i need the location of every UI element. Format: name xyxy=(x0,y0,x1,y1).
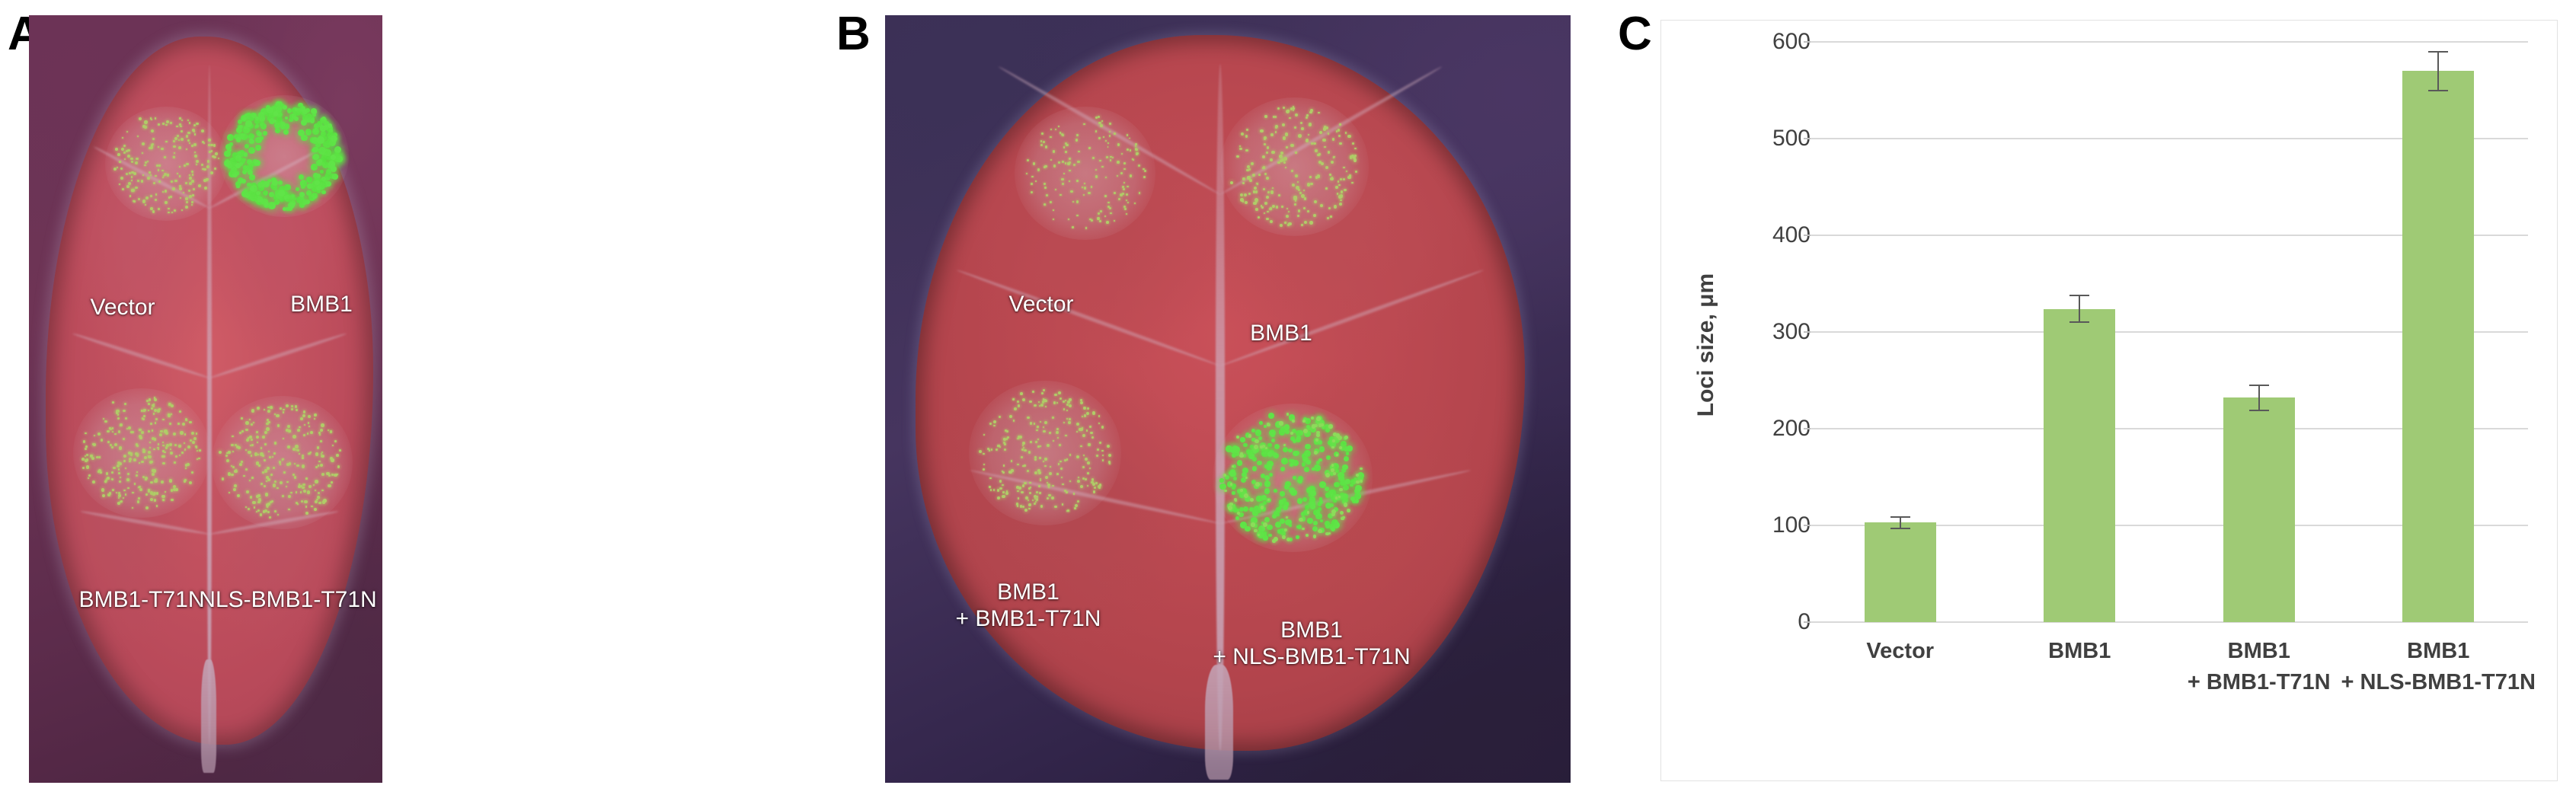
fluorescent-locus xyxy=(242,117,246,120)
fluorescent-locus xyxy=(127,487,129,489)
fluorescent-locus xyxy=(1292,184,1295,187)
fluorescent-locus xyxy=(318,159,322,164)
fluorescent-locus xyxy=(1138,164,1140,167)
fluorescent-locus xyxy=(315,480,318,483)
fluorescent-locus xyxy=(291,405,293,407)
fluorescent-locus xyxy=(1095,117,1098,119)
fluorescent-locus xyxy=(145,204,146,206)
fluorescent-locus xyxy=(267,467,270,470)
fluorescent-locus xyxy=(246,490,249,493)
fluorescent-locus xyxy=(124,403,126,405)
fluorescent-locus xyxy=(147,177,150,180)
fluorescent-locus xyxy=(1030,487,1031,488)
fluorescent-locus xyxy=(244,152,248,156)
fluorescent-locus xyxy=(1060,468,1063,470)
fluorescent-locus xyxy=(152,210,155,213)
fluorescent-locus xyxy=(91,457,94,460)
fluorescent-locus xyxy=(1319,500,1323,504)
fluorescent-locus xyxy=(185,197,188,200)
fluorescent-locus xyxy=(1086,429,1088,431)
fluorescent-locus xyxy=(263,510,265,512)
fluorescent-locus xyxy=(1123,182,1125,184)
fluorescent-locus xyxy=(161,170,163,171)
fluorescent-locus xyxy=(263,190,268,196)
fluorescent-locus xyxy=(1066,144,1069,147)
fluorescent-locus xyxy=(1341,190,1344,193)
fluorescent-locus xyxy=(278,190,285,196)
fluorescent-locus xyxy=(113,467,116,470)
fluorescent-locus xyxy=(167,174,170,177)
fluorescent-locus xyxy=(1009,415,1012,418)
fluorescent-locus xyxy=(175,488,178,491)
fluorescent-locus xyxy=(320,429,323,432)
error-bar xyxy=(2079,295,2080,323)
y-axis-tick-label: 300 xyxy=(1669,319,1821,345)
fluorescent-locus xyxy=(1228,506,1232,510)
fluorescent-locus xyxy=(1024,449,1027,452)
fluorescent-locus xyxy=(1057,437,1059,439)
fluorescent-locus xyxy=(1069,158,1071,160)
fluorescent-locus xyxy=(112,431,113,433)
fluorescent-locus xyxy=(178,146,181,149)
fluorescent-locus xyxy=(1264,475,1270,480)
fluorescent-locus xyxy=(1107,445,1110,448)
fluorescent-locus xyxy=(1094,487,1096,489)
fluorescent-locus xyxy=(1004,443,1006,445)
fluorescent-locus xyxy=(181,452,184,454)
fluorescent-locus xyxy=(305,477,308,480)
fluorescent-locus xyxy=(1232,486,1235,490)
y-axis-tick-label: 0 xyxy=(1669,609,1821,635)
fluorescent-locus xyxy=(1034,423,1036,425)
fluorescent-locus xyxy=(155,422,156,423)
fluorescent-locus xyxy=(92,480,95,484)
fluorescent-locus xyxy=(1333,157,1334,158)
fluorescent-locus xyxy=(1293,451,1298,456)
fluorescent-locus xyxy=(1072,226,1073,228)
fluorescent-locus xyxy=(150,461,152,463)
fluorescent-locus xyxy=(321,490,324,492)
fluorescent-locus xyxy=(1334,205,1338,209)
fluorescent-locus xyxy=(1075,139,1078,141)
fluorescent-locus xyxy=(300,491,302,493)
fluorescent-locus xyxy=(314,508,317,511)
fluorescent-locus xyxy=(113,168,117,171)
fluorescent-locus xyxy=(1279,421,1283,425)
fluorescent-locus xyxy=(1331,161,1334,164)
fluorescent-locus xyxy=(117,167,118,168)
fluorescent-locus xyxy=(1035,501,1037,503)
fluorescent-locus xyxy=(999,416,1001,418)
fluorescent-locus xyxy=(294,117,299,121)
fluorescent-locus xyxy=(119,462,122,465)
fluorescent-locus xyxy=(125,468,126,469)
error-bar-cap-upper xyxy=(2249,385,2269,386)
fluorescent-locus xyxy=(286,486,288,488)
fluorescent-locus xyxy=(1325,473,1330,477)
fluorescent-locus xyxy=(1124,208,1127,210)
fluorescent-locus xyxy=(187,132,190,134)
fluorescent-locus xyxy=(1095,175,1098,177)
fluorescent-locus xyxy=(1355,485,1362,492)
fluorescent-locus xyxy=(264,485,266,487)
x-axis-category-label: BMB1 xyxy=(1980,636,2181,667)
fluorescent-locus xyxy=(307,433,309,435)
fluorescent-locus xyxy=(131,176,133,177)
fluorescent-locus xyxy=(1050,201,1052,203)
fluorescent-locus xyxy=(287,445,289,448)
fluorescent-locus xyxy=(1297,498,1303,504)
fluorescent-locus xyxy=(111,446,113,448)
fluorescent-locus xyxy=(1298,189,1300,191)
fluorescent-locus xyxy=(990,489,992,491)
fluorescent-locus xyxy=(1252,174,1255,177)
fluorescent-locus xyxy=(310,431,313,434)
fluorescent-locus xyxy=(193,188,195,190)
fluorescent-locus xyxy=(123,497,124,499)
fluorescent-locus xyxy=(1053,164,1056,167)
fluorescent-locus xyxy=(1034,471,1037,474)
fluorescent-locus xyxy=(318,147,325,154)
fluorescent-locus xyxy=(1280,519,1285,524)
fluorescent-locus xyxy=(207,160,210,163)
fluorescent-locus xyxy=(1143,176,1146,178)
fluorescent-locus xyxy=(153,413,155,415)
fluorescent-locus xyxy=(1059,132,1062,134)
fluorescent-locus xyxy=(1120,172,1123,174)
fluorescent-locus xyxy=(303,410,306,413)
fluorescent-locus xyxy=(196,164,197,165)
fluorescent-locus xyxy=(1310,490,1316,496)
fluorescent-locus xyxy=(1083,194,1085,196)
fluorescent-locus xyxy=(250,496,253,499)
bar xyxy=(2044,309,2115,622)
fluorescent-locus xyxy=(152,493,155,496)
fluorescent-locus xyxy=(1319,131,1322,134)
fluorescent-locus xyxy=(259,116,265,122)
fluorescent-locus xyxy=(1253,449,1258,454)
fluorescent-locus xyxy=(290,492,292,493)
fluorescent-locus xyxy=(1106,221,1109,224)
fluorescent-locus xyxy=(1328,424,1332,428)
fluorescent-locus xyxy=(1099,484,1101,486)
fluorescent-locus xyxy=(1041,132,1044,135)
fluorescent-locus xyxy=(1346,452,1350,455)
fluorescent-locus xyxy=(1242,177,1245,180)
fluorescent-locus xyxy=(1068,421,1071,424)
fluorescent-locus xyxy=(254,160,260,166)
fluorescent-locus xyxy=(192,174,193,175)
fluorescent-locus xyxy=(181,120,183,121)
y-axis-tick-label: 400 xyxy=(1669,222,1821,248)
fluorescent-locus xyxy=(1019,436,1022,439)
fluorescent-locus xyxy=(1044,187,1047,189)
fluorescent-locus xyxy=(1316,417,1321,421)
fluorescent-locus xyxy=(1067,162,1069,164)
fluorescent-locus xyxy=(249,174,255,180)
fluorescent-locus xyxy=(187,445,190,448)
fluorescent-locus xyxy=(184,442,186,445)
leaf-a-petiole xyxy=(201,659,216,773)
fluorescent-locus xyxy=(170,122,172,124)
fluorescent-locus xyxy=(126,185,129,188)
fluorescent-locus xyxy=(1065,151,1067,153)
fluorescent-locus xyxy=(1302,497,1307,502)
fluorescent-locus xyxy=(1280,491,1284,496)
fluorescent-locus xyxy=(1046,194,1048,196)
fluorescent-locus xyxy=(1354,499,1359,503)
fluorescent-locus xyxy=(178,445,181,447)
fluorescent-locus xyxy=(1344,189,1347,192)
fluorescent-locus xyxy=(127,473,129,475)
fluorescent-locus xyxy=(1248,453,1254,458)
fluorescent-locus xyxy=(141,410,142,411)
fluorescent-locus xyxy=(339,449,341,452)
fluorescent-locus xyxy=(1252,509,1258,516)
fluorescent-locus xyxy=(1104,195,1107,197)
fluorescent-locus xyxy=(169,479,172,482)
fluorescent-locus xyxy=(1034,458,1037,461)
fluorescent-locus xyxy=(1261,495,1267,500)
fluorescent-locus xyxy=(1007,436,1009,439)
fluorescent-locus xyxy=(1052,417,1054,419)
fluorescent-locus xyxy=(1267,452,1273,457)
fluorescent-locus xyxy=(315,452,318,455)
fluorescent-locus xyxy=(239,463,242,466)
fluorescent-locus xyxy=(191,171,193,173)
fluorescent-locus xyxy=(1102,459,1104,461)
fluorescent-locus xyxy=(232,436,234,438)
fluorescent-locus xyxy=(1096,455,1098,457)
fluorescent-locus xyxy=(1270,158,1273,161)
fluorescent-locus xyxy=(214,168,216,170)
fluorescent-locus xyxy=(287,425,290,428)
fluorescent-locus xyxy=(1122,193,1124,195)
fluorescent-locus xyxy=(1091,478,1095,481)
fluorescent-locus xyxy=(1304,221,1307,224)
fluorescent-locus xyxy=(171,180,173,183)
fluorescent-locus xyxy=(1031,191,1033,193)
fluorescent-locus xyxy=(184,433,186,435)
fluorescent-locus xyxy=(118,497,120,500)
fluorescent-locus xyxy=(1018,497,1019,499)
fluorescent-locus xyxy=(193,131,195,132)
fluorescent-locus xyxy=(131,161,133,163)
fluorescent-locus xyxy=(229,492,230,493)
fluorescent-locus xyxy=(318,502,321,505)
fluorescent-loci-b-vector xyxy=(1019,111,1150,235)
fluorescent-locus xyxy=(296,464,299,468)
fluorescent-locus xyxy=(179,187,182,190)
fluorescent-locus xyxy=(305,199,310,204)
fluorescent-locus xyxy=(1267,146,1269,148)
fluorescent-locus xyxy=(315,500,318,503)
fluorescent-locus xyxy=(228,451,230,453)
fluorescent-locus xyxy=(310,118,315,123)
fluorescent-locus xyxy=(174,137,177,140)
fluorescent-locus xyxy=(142,418,145,420)
fluorescent-locus xyxy=(1085,458,1088,461)
fluorescent-locus xyxy=(1033,162,1036,165)
fluorescent-locus xyxy=(102,494,105,497)
error-bar-cap-upper xyxy=(2069,295,2089,296)
fluorescent-locus xyxy=(1360,480,1363,483)
fluorescent-locus xyxy=(150,498,153,501)
fluorescent-locus xyxy=(273,111,278,116)
fluorescent-locus xyxy=(312,147,318,153)
fluorescent-locus xyxy=(1076,200,1079,203)
fluorescent-locus xyxy=(1230,483,1232,485)
fluorescent-locus xyxy=(198,184,201,187)
fluorescent-locus xyxy=(1024,464,1025,466)
fluorescent-locus xyxy=(302,110,307,114)
fluorescent-loci-a-vector xyxy=(108,110,222,216)
fluorescent-locus xyxy=(1331,468,1334,472)
fluorescent-locus xyxy=(1092,483,1095,486)
fluorescent-locus xyxy=(1040,445,1041,447)
fluorescent-locus xyxy=(1270,133,1274,136)
fluorescent-locus xyxy=(316,174,321,178)
fluorescent-locus xyxy=(1045,406,1047,407)
fluorescent-locus xyxy=(203,168,206,171)
fluorescent-locus xyxy=(196,446,197,448)
fluorescent-locus xyxy=(172,187,175,190)
fluorescent-locus xyxy=(284,196,288,199)
fluorescent-locus xyxy=(1110,159,1112,161)
fluorescent-locus xyxy=(1296,535,1299,539)
fluorescent-locus xyxy=(189,421,191,423)
fluorescent-locus xyxy=(194,152,196,153)
fluorescent-locus xyxy=(1036,491,1038,493)
fluorescent-locus xyxy=(1014,407,1017,410)
error-bar-cap-upper xyxy=(1890,516,1910,518)
fluorescent-locus xyxy=(191,201,193,203)
fluorescent-locus xyxy=(299,453,300,455)
fluorescent-locus xyxy=(997,489,1000,492)
fluorescent-locus xyxy=(231,444,233,446)
fluorescent-locus xyxy=(139,462,140,464)
fluorescent-locus xyxy=(168,212,170,214)
fluorescent-locus xyxy=(1315,176,1318,179)
fluorescent-locus xyxy=(1258,436,1262,440)
fluorescent-locus xyxy=(1087,407,1089,410)
fluorescent-locus xyxy=(1264,202,1267,205)
fluorescent-locus xyxy=(1293,439,1297,444)
fluorescent-locus xyxy=(1230,181,1233,184)
fluorescent-locus xyxy=(1069,180,1070,182)
fluorescent-locus xyxy=(129,458,132,461)
fluorescent-locus xyxy=(270,407,273,409)
fluorescent-locus xyxy=(276,487,279,490)
fluorescent-locus xyxy=(317,446,320,449)
fluorescent-locus xyxy=(1327,217,1329,219)
error-bar xyxy=(2437,52,2439,91)
fluorescent-locus xyxy=(1099,220,1101,222)
fluorescent-locus xyxy=(1063,401,1065,403)
error-bar xyxy=(2258,385,2260,410)
fluorescent-locus xyxy=(1038,401,1040,404)
fluorescent-locus xyxy=(115,148,118,151)
fluorescent-locus xyxy=(1026,173,1028,174)
fluorescent-locus xyxy=(1263,522,1267,527)
fluorescent-locus xyxy=(90,455,92,457)
fluorescent-locus xyxy=(328,429,329,431)
fluorescent-locus xyxy=(326,472,329,475)
fluorescent-locus xyxy=(1326,455,1331,460)
fluorescent-locus xyxy=(178,139,180,141)
fluorescent-locus xyxy=(299,426,300,428)
fluorescent-locus xyxy=(1058,391,1061,394)
fluorescent-locus xyxy=(1112,157,1114,158)
fluorescent-locus xyxy=(1134,203,1136,204)
fluorescent-locus xyxy=(158,443,159,445)
x-axis-category-label: BMB1 + BMB1-T71N xyxy=(2159,636,2360,698)
fluorescent-locus xyxy=(264,469,268,473)
fluorescent-locus xyxy=(1276,507,1280,512)
fluorescent-locus xyxy=(1073,493,1075,494)
fluorescent-locus xyxy=(1095,169,1097,171)
fluorescent-locus xyxy=(1047,444,1050,447)
fluorescent-locus xyxy=(321,162,325,166)
fluorescent-locus xyxy=(1233,477,1237,480)
fluorescent-locus xyxy=(278,180,283,185)
fluorescent-locus xyxy=(242,158,246,162)
fluorescent-locus xyxy=(123,460,126,462)
fluorescent-locus xyxy=(1344,503,1347,506)
fluorescent-locus xyxy=(1021,491,1023,493)
fluorescent-locus xyxy=(1087,461,1090,464)
fluorescent-locus xyxy=(1286,413,1289,415)
fluorescent-locus xyxy=(1351,182,1354,184)
fluorescent-locus xyxy=(175,455,177,458)
fluorescent-locus xyxy=(1280,224,1283,227)
error-bar-cap-upper xyxy=(2428,51,2448,53)
fluorescent-locus xyxy=(1039,405,1040,407)
fluorescent-locus xyxy=(1126,213,1127,215)
fluorescent-locus xyxy=(1028,451,1031,454)
fluorescent-locus xyxy=(993,420,996,423)
fluorescent-locus xyxy=(1101,166,1104,168)
error-bar-cap-lower xyxy=(2249,410,2269,411)
fluorescent-locus xyxy=(1069,454,1071,455)
fluorescent-locus xyxy=(151,129,154,132)
fluorescent-locus xyxy=(134,483,136,484)
fluorescent-locus xyxy=(86,465,89,468)
y-axis-tick-mark xyxy=(1804,428,1811,429)
fluorescent-locus xyxy=(1251,522,1254,526)
fluorescent-locus xyxy=(1083,123,1085,126)
fluorescent-locus xyxy=(1340,194,1343,197)
fluorescent-locus xyxy=(123,410,125,412)
fluorescent-locus xyxy=(255,145,261,151)
fluorescent-locus xyxy=(1261,206,1264,209)
fluorescent-locus xyxy=(1090,432,1093,435)
fluorescent-locus xyxy=(1266,177,1269,180)
fluorescent-locus xyxy=(1301,224,1302,225)
fluorescent-locus xyxy=(1089,468,1091,469)
fluorescent-locus xyxy=(1258,216,1260,219)
y-axis-tick-mark xyxy=(1804,138,1811,139)
fluorescent-locus xyxy=(184,164,186,167)
fluorescent-locus xyxy=(267,478,270,481)
fluorescent-locus xyxy=(1126,199,1127,201)
fluorescent-locus xyxy=(1293,107,1295,110)
fluorescent-locus xyxy=(1338,135,1341,137)
fluorescent-locus xyxy=(204,187,207,190)
fluorescent-locus xyxy=(112,427,113,429)
fluorescent-locus xyxy=(274,510,276,512)
fluorescent-locus xyxy=(1037,426,1039,428)
